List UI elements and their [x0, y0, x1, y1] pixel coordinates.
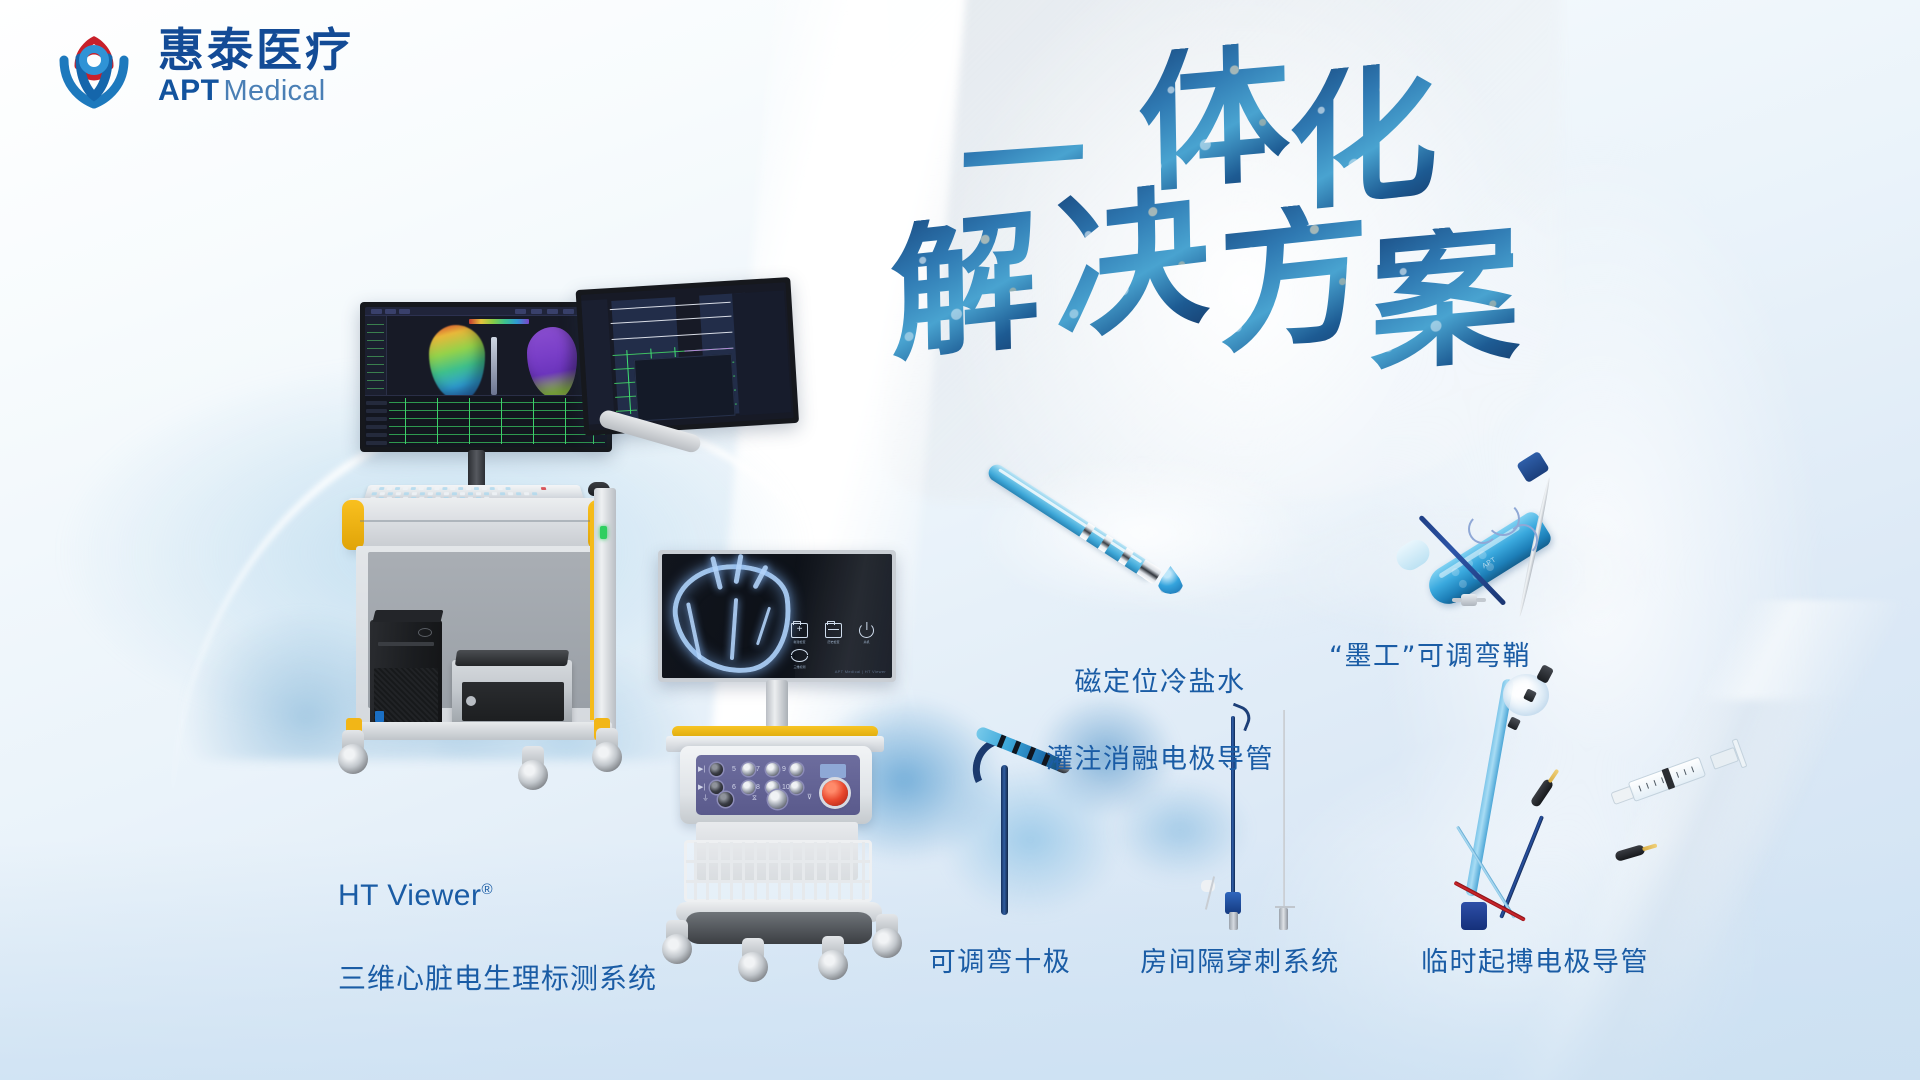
- sheath-rotation-knob: [1516, 451, 1550, 483]
- console-caster: [662, 920, 692, 964]
- printer-power-button[interactable]: [466, 696, 476, 706]
- brand-name-apt: APT: [158, 76, 220, 106]
- caption-ablation-line2: 灌注消融电极导管: [1020, 741, 1300, 779]
- control-panel-face: ▶| ▶| 5 6 7 8 9 10 ⏚ ⧖ ⊽: [696, 755, 860, 815]
- intracardiac-ecg-area: [365, 395, 607, 447]
- caption-ht-viewer: HT Viewer® 三维心脏电生理标测系统: [338, 832, 657, 1041]
- console-screen[interactable]: 新建检查 历史检查 关机 三维标测 APT Medical | HT Viewe…: [662, 554, 892, 678]
- voltage-map-chamber-b: [527, 327, 577, 399]
- headline-char-4: 解: [889, 208, 1041, 367]
- ablation-catheter-product: [990, 450, 1190, 600]
- brand-name-cn: 惠泰医疗: [158, 26, 354, 74]
- transseptal-luer-connector: [1229, 912, 1238, 930]
- tray-handle-left[interactable]: [342, 500, 364, 550]
- caption-ht-viewer-cn: 三维心脏电生理标测系统: [338, 958, 657, 1000]
- open-folder-icon[interactable]: 历史检查: [825, 623, 842, 638]
- heart-circles-logo-icon: [48, 20, 140, 112]
- brand-logo-text: 惠泰医疗 APT Medical: [158, 26, 354, 106]
- pc-optical-drive: [378, 642, 434, 646]
- steerable-sheath-product: APT: [1412, 448, 1662, 618]
- new-patient-label: 新建检查: [793, 640, 805, 644]
- voltage-colorbar: [469, 319, 529, 324]
- saline-irrigation-droplet-icon: [1158, 566, 1183, 594]
- ep-channel-list: [581, 299, 615, 424]
- pacing-catheter-shaft: [1465, 678, 1514, 897]
- mapping-monitor-left: [360, 302, 612, 452]
- caption-pacing-catheter: 临时起搏电极导管: [1400, 944, 1670, 982]
- console-caster: [818, 936, 848, 980]
- ep-measurement-table: [732, 290, 791, 415]
- mapping-label: 三维标测: [793, 665, 805, 669]
- cart-base-shelf: [350, 722, 612, 740]
- printer-front-panel: [462, 682, 564, 721]
- headline-char-6: 方: [1217, 198, 1371, 359]
- power-icon[interactable]: 关机: [859, 623, 874, 638]
- pacing-connector-blue: [1529, 778, 1554, 808]
- temporary-pacing-catheter-product: [1465, 660, 1745, 930]
- electrode-ring: [1507, 716, 1521, 730]
- report-printer: [452, 660, 572, 726]
- ep-subpanel: [634, 354, 736, 422]
- ep-recording-screen: [581, 282, 794, 430]
- mapping-icon[interactable]: 三维标测: [791, 649, 808, 662]
- caption-steerable-sheath: “墨工”可调弯鞘: [1300, 638, 1560, 676]
- caption-ablation-line1: 磁定位冷盐水: [1020, 664, 1300, 702]
- curve-indicator-arc: [1508, 524, 1538, 556]
- pacing-hub: [1461, 902, 1487, 930]
- pc-brand-mark: [418, 628, 432, 637]
- mapping-channel-sidebar: [365, 316, 387, 395]
- brand-name-medical: Medical: [224, 77, 326, 106]
- tray-seam: [360, 520, 592, 522]
- power-led-indicator: [600, 526, 607, 539]
- transseptal-hub: [1225, 892, 1241, 914]
- mapping-console-cart: 新建检查 历史检查 关机 三维标测 APT Medical | HT Viewe…: [640, 540, 920, 1040]
- brand-name-en: APT Medical: [158, 76, 354, 106]
- headline-calligraphy: 一 体 化 解 决 方 案: [960, 40, 1650, 360]
- headline-char-5: 决: [1053, 178, 1210, 346]
- mapping-toolbar: [365, 307, 607, 316]
- printer-paper-tray: [455, 650, 569, 666]
- console-storage-basket: [684, 840, 872, 902]
- headline-char-7: 案: [1370, 221, 1519, 377]
- mapping-3d-area: [365, 307, 607, 395]
- console-caster: [738, 938, 768, 982]
- cart-caster: [518, 746, 548, 790]
- mapping-monitor-screen: [365, 307, 607, 447]
- cart-caster: [592, 728, 622, 772]
- control-panel-brand-chip: [820, 764, 846, 778]
- electrode-ring: [997, 734, 1007, 748]
- caption-ht-viewer-en: HT Viewer®: [338, 873, 657, 918]
- new-patient-folder-icon[interactable]: 新建检查: [791, 623, 808, 638]
- sheath-hemostasis-valve: [1456, 590, 1482, 610]
- caption-transseptal: 房间隔穿刺系统: [1120, 944, 1360, 982]
- console-touchscreen-monitor[interactable]: 新建检查 历史检查 关机 三维标测 APT Medical | HT Viewe…: [658, 550, 896, 682]
- caption-ablation-catheter: 磁定位冷盐水 灌注消融电极导管: [1020, 626, 1300, 818]
- console-screen-brand: APT Medical | HT Viewer: [835, 669, 886, 674]
- transseptal-wire-hub: [1279, 908, 1288, 930]
- console-icon-menu: 新建检查 历史检查 关机 三维标测: [791, 623, 874, 662]
- voltage-map-chamber-a: [429, 325, 485, 401]
- emergency-stop-button[interactable]: [822, 780, 848, 806]
- console-caster: [872, 914, 902, 958]
- history-label: 历史检查: [827, 640, 839, 644]
- pacing-connector-red: [1614, 844, 1646, 862]
- control-interface-box: ▶| ▶| 5 6 7 8 9 10 ⏚ ⧖ ⊽: [680, 746, 872, 824]
- cart-caster: [338, 730, 368, 774]
- pc-top-bevel: [373, 610, 444, 622]
- brand-logo: 惠泰医疗 APT Medical: [48, 20, 354, 112]
- ablation-catheter-shaft: [985, 461, 1159, 582]
- inflation-syringe: [1611, 746, 1727, 812]
- workstation-pc-tower: [370, 620, 442, 728]
- catheter-3d-icon: [491, 337, 497, 395]
- keyboard-tray: [348, 498, 604, 550]
- pc-cpu-badge: [375, 711, 384, 722]
- curve-indicator-arc: [1468, 514, 1498, 544]
- console-monitor-column: [766, 680, 788, 728]
- caption-decapolar: 可调弯十极: [900, 944, 1100, 982]
- power-label: 关机: [863, 640, 869, 644]
